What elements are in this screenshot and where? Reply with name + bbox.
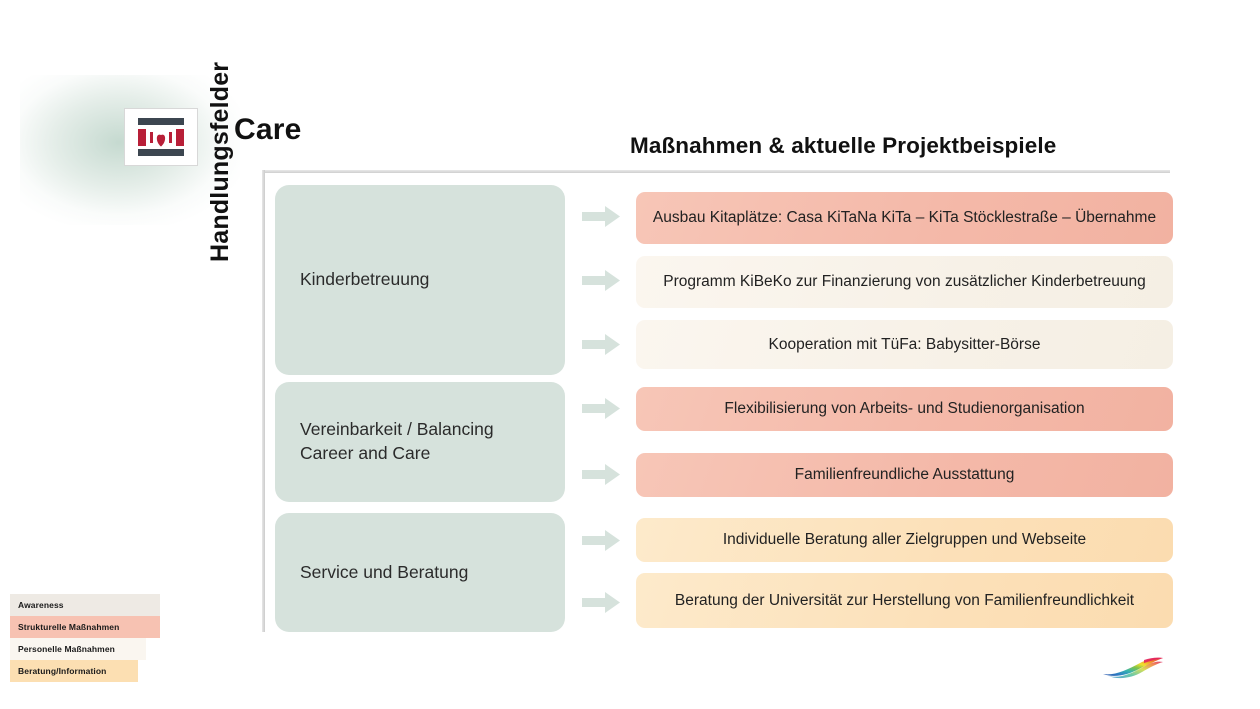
arrow-right-icon [582,592,620,613]
measure-box[interactable]: Kooperation mit TüFa: Babysitter-Börse [636,320,1173,369]
arrow-right-icon [582,270,620,291]
measure-text: Kooperation mit TüFa: Babysitter-Börse [769,334,1041,355]
slide-canvas: Care Maßnahmen & aktuelle Projektbeispie… [0,0,1260,709]
category-label: Service und Beratung [300,561,468,585]
measure-text: Flexibilisierung von Arbeits- und Studie… [724,398,1084,419]
legend-label: Personelle Maßnahmen [18,644,115,654]
frame-top-rule [262,170,1170,173]
legend-label: Beratung/Information [18,666,106,676]
legend-label: Strukturelle Maßnahmen [18,622,119,632]
rainbow-swoosh-logo-icon [1100,655,1166,683]
legend-item-awareness: Awareness [10,594,160,616]
legend-item-beratung-information: Beratung/Information [10,660,138,682]
legend-label: Awareness [18,600,64,610]
legend-item-strukturelle-massnahmen: Strukturelle Maßnahmen [10,616,160,638]
page-title: Care [234,113,302,147]
measure-box[interactable]: Individuelle Beratung aller Zielgruppen … [636,518,1173,562]
category-box-vereinbarkeit[interactable]: Vereinbarkeit / Balancing Career and Car… [275,382,565,502]
measure-text: Programm KiBeKo zur Finanzierung von zus… [663,271,1145,292]
arrow-right-icon [582,398,620,419]
measure-text: Beratung der Universität zur Herstellung… [675,590,1134,611]
legend: Awareness Strukturelle Maßnahmen Persone… [10,594,160,682]
measure-text: Individuelle Beratung aller Zielgruppen … [723,529,1086,550]
axis-label: Handlungsfelder [206,0,235,262]
measure-box[interactable]: Ausbau Kitaplätze: Casa KiTaNa KiTa – Ki… [636,192,1173,244]
measure-box[interactable]: Programm KiBeKo zur Finanzierung von zus… [636,256,1173,308]
category-label: Vereinbarkeit / Balancing Career and Car… [300,418,540,465]
legend-item-personelle-massnahmen: Personelle Maßnahmen [10,638,146,660]
frame-left-rule [262,170,265,632]
measure-box[interactable]: Flexibilisierung von Arbeits- und Studie… [636,387,1173,431]
measure-box[interactable]: Familienfreundliche Ausstattung [636,453,1173,497]
measure-text: Ausbau Kitaplätze: Casa KiTaNa KiTa – Ki… [653,207,1156,228]
measure-text: Familienfreundliche Ausstattung [795,464,1015,485]
arrow-right-icon [582,530,620,551]
measure-box[interactable]: Beratung der Universität zur Herstellung… [636,573,1173,628]
main-heading: Maßnahmen & aktuelle Projektbeispiele [630,133,1056,159]
care-heart-logo-icon [124,108,198,166]
arrow-right-icon [582,334,620,355]
category-box-service[interactable]: Service und Beratung [275,513,565,632]
category-label: Kinderbetreuung [300,268,429,292]
category-box-kinderbetreuung[interactable]: Kinderbetreuung [275,185,565,375]
arrow-right-icon [582,206,620,227]
axis-label-container: Handlungsfelder [0,0,60,460]
arrow-right-icon [582,464,620,485]
